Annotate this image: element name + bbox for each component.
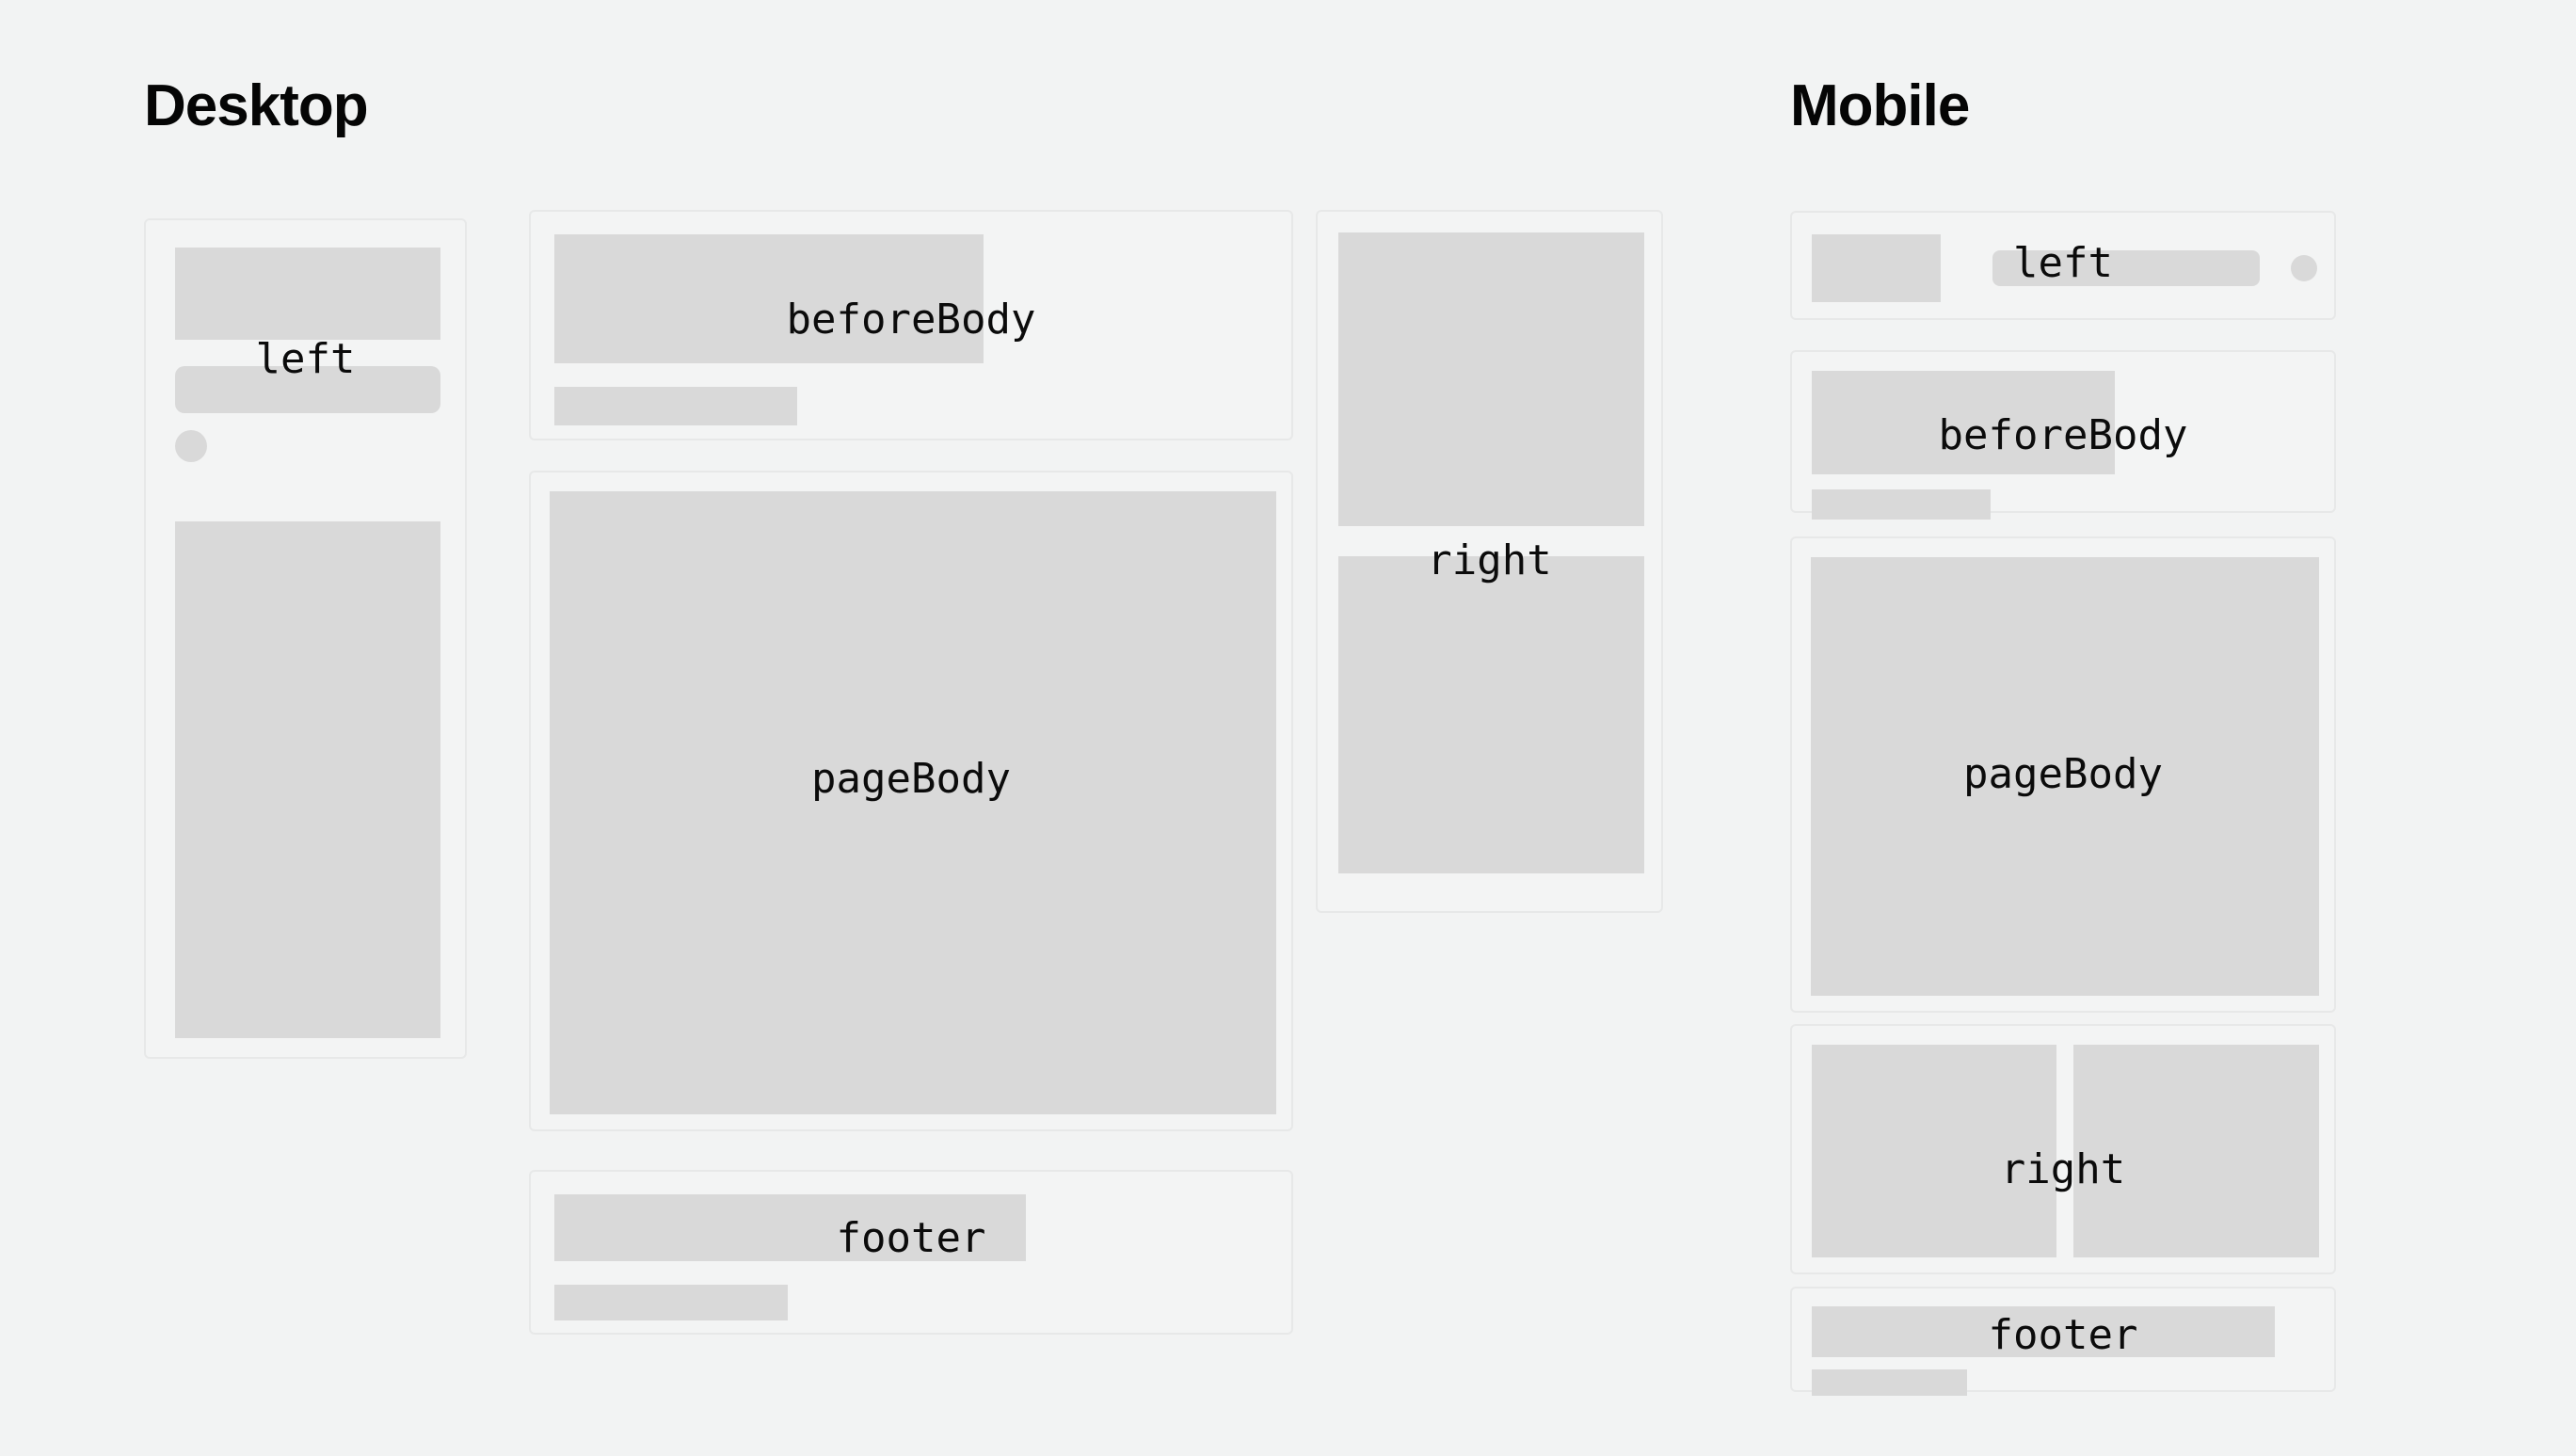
placeholder-circle-avatar (2291, 255, 2317, 281)
mobile-before-body-region-card[interactable] (1790, 350, 2336, 513)
placeholder-bar (554, 387, 797, 425)
placeholder-block (1812, 1045, 2056, 1257)
layout-preview-canvas: Desktop Mobile left beforeBody pageBody … (0, 0, 2576, 1456)
placeholder-block (175, 248, 440, 340)
placeholder-bar (1812, 489, 1991, 520)
placeholder-rounded-bar (1992, 250, 2260, 286)
placeholder-block (1812, 234, 1941, 302)
placeholder-circle-avatar (175, 430, 207, 462)
placeholder-block (1338, 556, 1644, 873)
placeholder-block (1812, 1306, 2275, 1357)
mobile-section-title: Mobile (1790, 77, 1969, 136)
placeholder-rounded-bar (175, 366, 440, 413)
mobile-footer-region-card[interactable] (1790, 1287, 2336, 1392)
placeholder-block (1811, 557, 2319, 996)
placeholder-block (2073, 1045, 2319, 1257)
placeholder-block (1338, 232, 1644, 526)
mobile-page-body-region-card[interactable] (1790, 536, 2336, 1013)
placeholder-block (554, 234, 984, 363)
placeholder-block (554, 1194, 1026, 1261)
desktop-page-body-region-card[interactable] (529, 471, 1293, 1131)
desktop-left-region-card[interactable] (144, 218, 467, 1059)
placeholder-block (550, 491, 1276, 1114)
placeholder-bar (554, 1285, 788, 1320)
desktop-before-body-region-card[interactable] (529, 210, 1293, 440)
mobile-left-region-card[interactable] (1790, 211, 2336, 320)
desktop-section-title: Desktop (144, 77, 368, 136)
desktop-right-region-card[interactable] (1316, 210, 1663, 913)
desktop-footer-region-card[interactable] (529, 1170, 1293, 1335)
placeholder-block (1812, 371, 2115, 474)
placeholder-tall-block (175, 521, 440, 1038)
placeholder-bar (1812, 1369, 1967, 1396)
mobile-right-region-card[interactable] (1790, 1024, 2336, 1274)
